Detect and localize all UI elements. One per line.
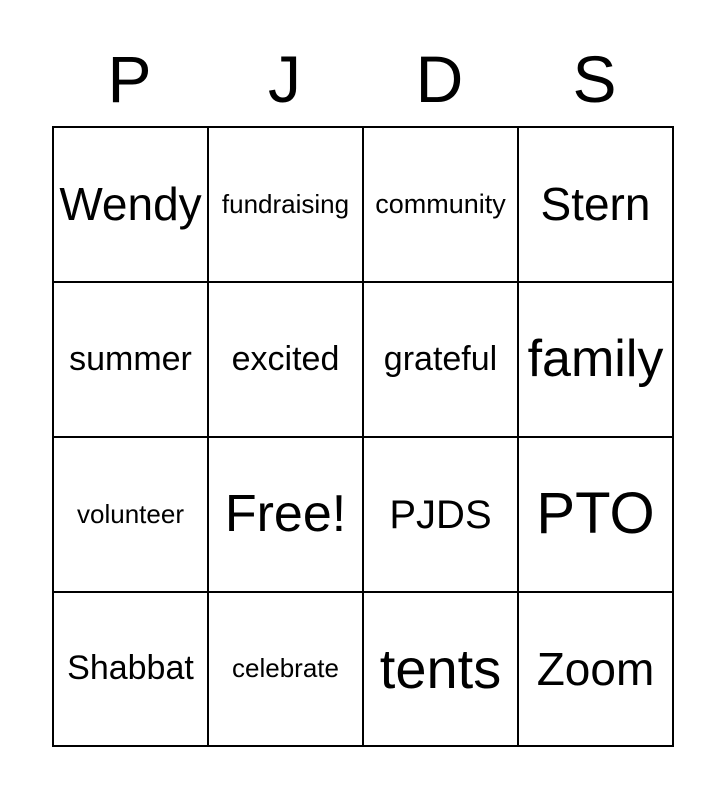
- bingo-cell-label: summer: [69, 342, 192, 378]
- bingo-cell[interactable]: Stern: [519, 128, 674, 283]
- bingo-cell-label: tents: [380, 640, 501, 699]
- bingo-header-letter: S: [572, 46, 616, 112]
- bingo-cell[interactable]: Zoom: [519, 593, 674, 747]
- bingo-cell-label: Shabbat: [67, 651, 194, 687]
- bingo-cell-label: grateful: [384, 342, 497, 378]
- bingo-cell[interactable]: excited: [209, 283, 364, 438]
- bingo-header-cell-3: D: [362, 0, 517, 126]
- bingo-cell[interactable]: Shabbat: [54, 593, 209, 747]
- bingo-header-letter: D: [416, 46, 464, 112]
- bingo-cell-label: PJDS: [389, 494, 491, 536]
- bingo-grid: Wendy fundraising community Stern summer…: [52, 126, 674, 747]
- bingo-cell-label: excited: [232, 342, 340, 378]
- bingo-row: Wendy fundraising community Stern: [54, 128, 674, 283]
- bingo-header-letter: J: [268, 46, 301, 112]
- bingo-cell[interactable]: grateful: [364, 283, 519, 438]
- bingo-header-row: P J D S: [52, 0, 672, 126]
- bingo-cell[interactable]: volunteer: [54, 438, 209, 593]
- bingo-cell-label: celebrate: [232, 655, 339, 682]
- bingo-card: P J D S Wendy fundraising community Ster…: [52, 0, 672, 747]
- bingo-cell-label: Wendy: [59, 180, 201, 228]
- bingo-cell[interactable]: Wendy: [54, 128, 209, 283]
- bingo-cell[interactable]: tents: [364, 593, 519, 747]
- bingo-free-space-label: Free!: [225, 487, 346, 542]
- bingo-header-cell-4: S: [517, 0, 672, 126]
- bingo-header-letter: P: [107, 46, 151, 112]
- bingo-cell-free-space[interactable]: Free!: [209, 438, 364, 593]
- bingo-cell-label: PTO: [536, 484, 654, 545]
- bingo-cell-label: Stern: [541, 180, 651, 228]
- bingo-cell[interactable]: summer: [54, 283, 209, 438]
- bingo-cell[interactable]: celebrate: [209, 593, 364, 747]
- bingo-cell-label: family: [528, 332, 664, 387]
- bingo-cell-label: volunteer: [77, 501, 184, 528]
- bingo-row: volunteer Free! PJDS PTO: [54, 438, 674, 593]
- bingo-cell[interactable]: PJDS: [364, 438, 519, 593]
- bingo-header-cell-2: J: [207, 0, 362, 126]
- bingo-cell[interactable]: family: [519, 283, 674, 438]
- bingo-header-cell-1: P: [52, 0, 207, 126]
- bingo-row: summer excited grateful family: [54, 283, 674, 438]
- bingo-cell-label: Zoom: [537, 645, 655, 693]
- bingo-row: Shabbat celebrate tents Zoom: [54, 593, 674, 747]
- bingo-cell-label: fundraising: [222, 191, 349, 218]
- bingo-cell-label: community: [375, 190, 506, 218]
- bingo-cell[interactable]: PTO: [519, 438, 674, 593]
- bingo-cell[interactable]: fundraising: [209, 128, 364, 283]
- bingo-cell[interactable]: community: [364, 128, 519, 283]
